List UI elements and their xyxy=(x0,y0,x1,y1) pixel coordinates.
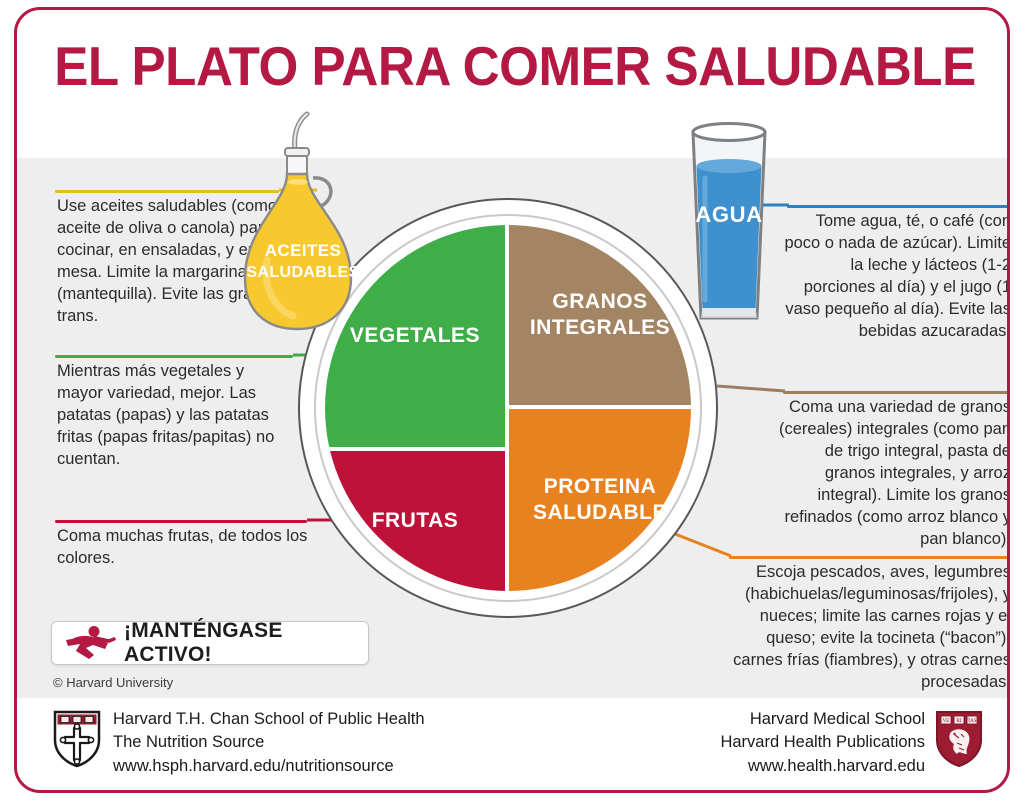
footer-chan-line2: The Nutrition Source xyxy=(113,731,425,754)
footer-chan-line3[interactable]: www.hsph.harvard.edu/nutritionsource xyxy=(113,755,425,778)
footer-hms-line2: Harvard Health Publications xyxy=(720,731,925,754)
callout-fruits: Coma muchas frutas, de todos los colores… xyxy=(57,526,319,570)
plate-section-vegetables-label: VEGETALES xyxy=(350,323,480,349)
plate-section-grains: GRANOS INTEGRALES xyxy=(509,225,691,405)
harvard-medical-shield-icon: VE RI TAS xyxy=(935,710,983,768)
svg-text:RI: RI xyxy=(957,719,962,724)
poster-frame: EL PLATO PARA COMER SALUDABLE Use aceite… xyxy=(14,7,1010,793)
plate-section-grains-label-line1: GRANOS xyxy=(530,289,670,315)
connector-rule-protein xyxy=(729,556,1009,559)
plate-section-fruits: FRUTAS xyxy=(325,451,505,591)
callout-grains: Coma una variedad de granos (cereales) i… xyxy=(773,397,1010,551)
stay-active-badge[interactable]: ¡MANTÉNGASE ACTIVO! xyxy=(51,621,369,665)
running-person-icon xyxy=(64,626,116,660)
copyright-notice: © Harvard University xyxy=(53,675,173,690)
footer-hms-line1: Harvard Medical School xyxy=(720,708,925,731)
plate-section-protein: PROTEINA SALUDABLE xyxy=(509,409,691,591)
footer-hms-line3[interactable]: www.health.harvard.edu xyxy=(720,755,925,778)
callout-protein: Escoja pescados, aves, legumbres (habich… xyxy=(721,562,1010,694)
harvard-chan-shield-icon xyxy=(53,710,101,768)
footer-harvard-medical: Harvard Medical School Harvard Health Pu… xyxy=(720,708,983,778)
svg-text:TAS: TAS xyxy=(967,719,976,724)
plate-section-fruits-label: FRUTAS xyxy=(372,508,459,534)
page-title: EL PLATO PARA COMER SALUDABLE xyxy=(52,34,978,98)
healthy-eating-plate-poster: EL PLATO PARA COMER SALUDABLE Use aceite… xyxy=(0,0,1024,801)
footer-chan-line1: Harvard T.H. Chan School of Public Healt… xyxy=(113,708,425,731)
connector-rule-grains xyxy=(783,391,1009,394)
water-glass-icon xyxy=(669,118,789,333)
plate-sections: VEGETALES FRUTAS GRANOS INTEGRALES PROTE… xyxy=(325,225,691,591)
connector-rule-water xyxy=(787,205,1009,208)
svg-text:VE: VE xyxy=(943,719,950,724)
connector-rule-vegetables xyxy=(55,355,293,358)
plate-section-grains-label-line2: INTEGRALES xyxy=(530,315,670,341)
plate-section-protein-label-line2: SALUDABLE xyxy=(533,500,667,526)
plate-section-protein-label-line1: PROTEINA xyxy=(533,474,667,500)
callout-water: Tome agua, té, o café (con poco o nada d… xyxy=(779,211,1010,343)
olive-oil-bottle-icon xyxy=(243,110,363,335)
stay-active-label: ¡MANTÉNGASE ACTIVO! xyxy=(124,619,368,667)
callout-vegetables: Mientras más vegetales y mayor variedad,… xyxy=(57,361,289,471)
connector-rule-fruits xyxy=(55,520,307,523)
footer-harvard-chan: Harvard T.H. Chan School of Public Healt… xyxy=(53,708,425,778)
